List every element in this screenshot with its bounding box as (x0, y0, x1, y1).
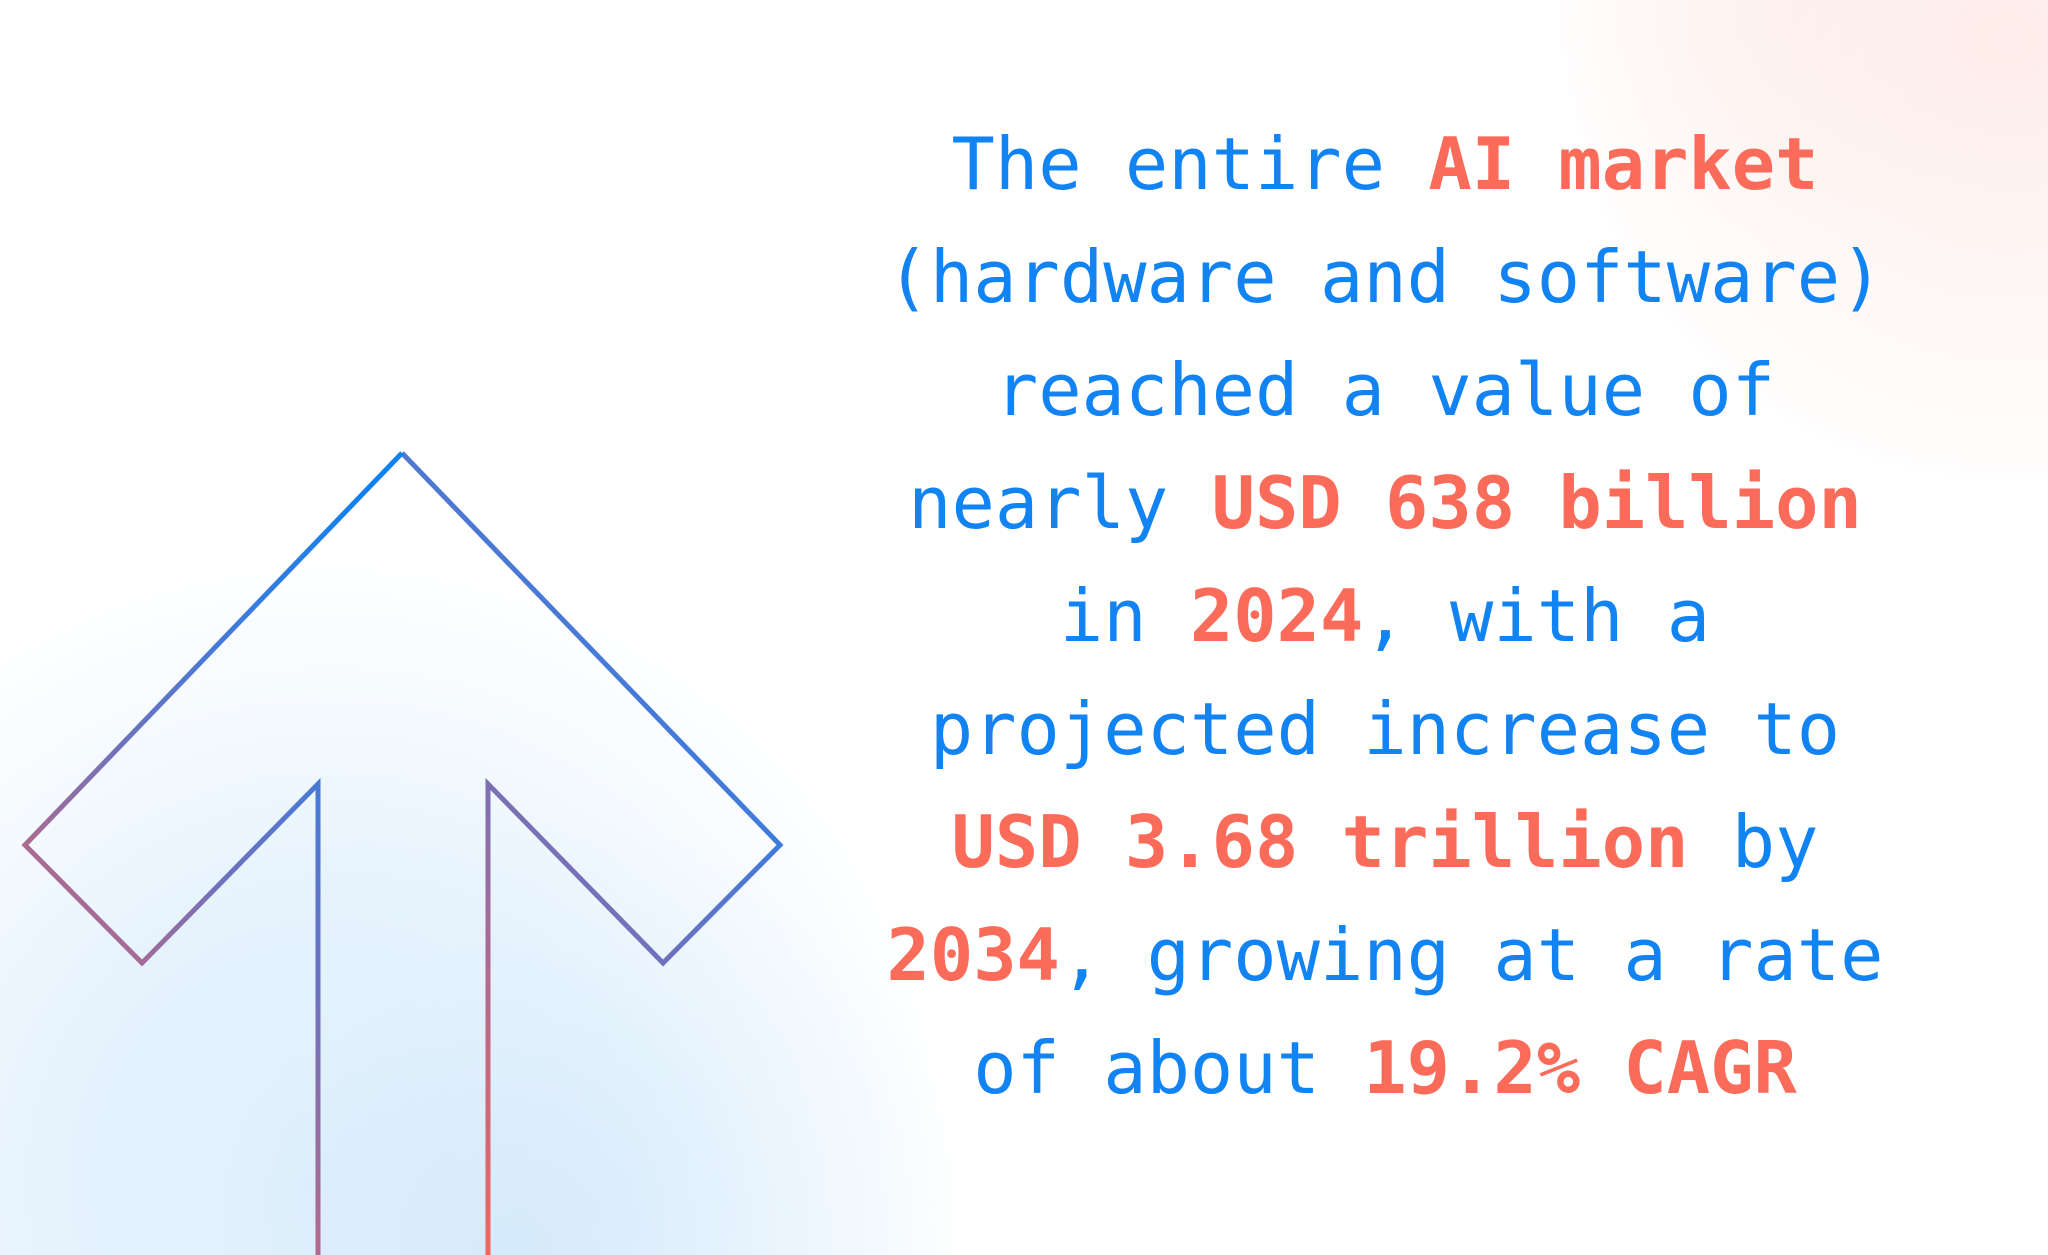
arrow-right-half-path (402, 453, 780, 1255)
arrow-left-half-path (25, 453, 402, 1255)
statement-text: of about (973, 1026, 1363, 1110)
infographic-canvas: The entire AI market(hardware and softwa… (0, 0, 2048, 1255)
statement-text: projected increase to (930, 687, 1840, 771)
highlighted-value: 2024 (1190, 574, 1363, 658)
highlighted-value: USD 3.68 trillion (952, 800, 1689, 884)
highlighted-value: AI market (1428, 122, 1818, 206)
statement-text: nearly (908, 461, 1211, 545)
statement-text: (hardware and software) (887, 235, 1884, 319)
statement-line: projected increase to (820, 673, 1950, 786)
statement-text: by (1688, 800, 1818, 884)
statement-text-block: The entire AI market(hardware and softwa… (820, 108, 1950, 1125)
statement-line: (hardware and software) (820, 221, 1950, 334)
statement-line: USD 3.68 trillion by (820, 786, 1950, 899)
statement-text: in (1060, 574, 1190, 658)
statement-text: The entire (952, 122, 1429, 206)
statement-line: of about 19.2% CAGR (820, 1012, 1950, 1125)
statement-line: in 2024, with a (820, 560, 1950, 673)
statement-line: reached a value of (820, 334, 1950, 447)
highlighted-value: USD 638 billion (1212, 461, 1862, 545)
statement-text: , with a (1363, 574, 1710, 658)
statement-text: reached a value of (995, 348, 1775, 432)
statement-line: The entire AI market (820, 108, 1950, 221)
statement-line: 2034, growing at a rate (820, 899, 1950, 1012)
highlighted-value: 2034 (887, 913, 1060, 997)
statement-text: , growing at a rate (1060, 913, 1884, 997)
statement-line: nearly USD 638 billion (820, 447, 1950, 560)
highlighted-value: 19.2% CAGR (1363, 1026, 1796, 1110)
